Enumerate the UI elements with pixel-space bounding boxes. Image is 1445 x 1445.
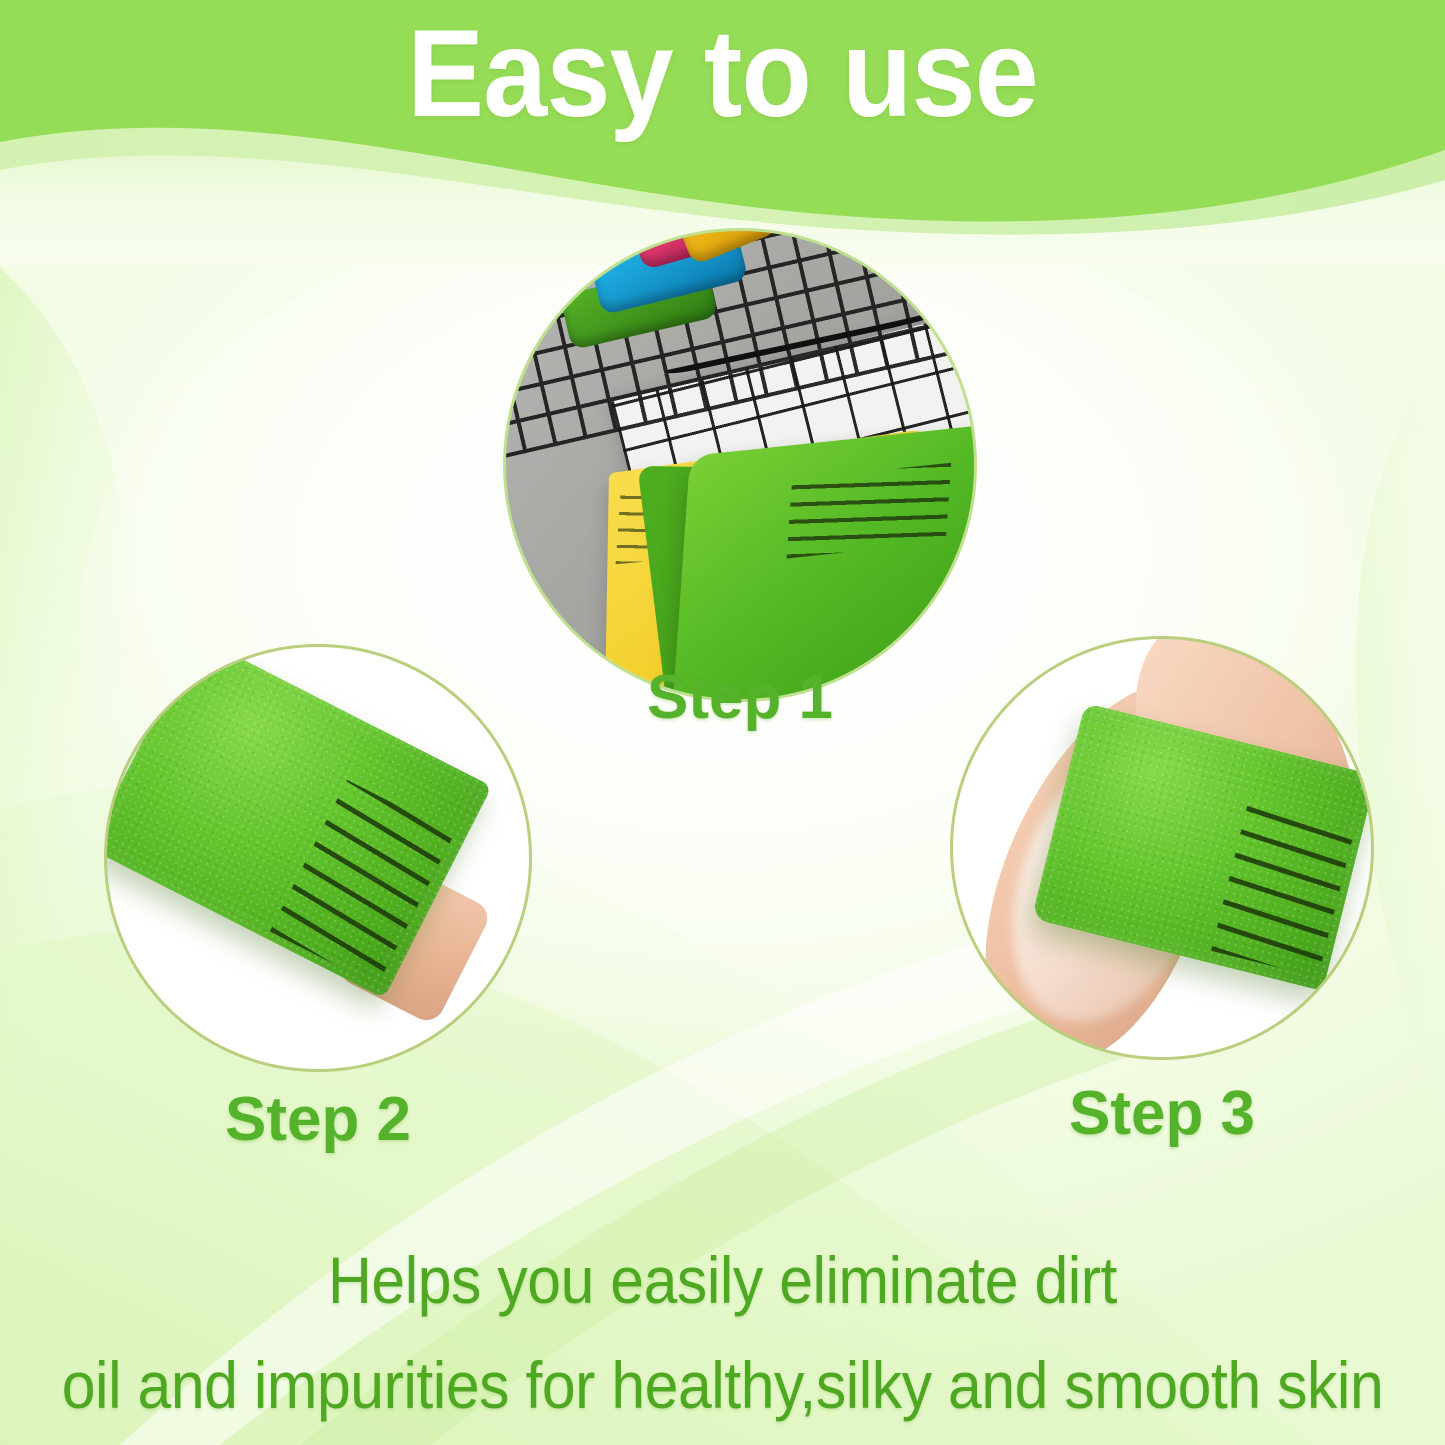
- step-2-label: Step 2: [68, 1084, 568, 1155]
- step-3-label: Step 3: [912, 1078, 1412, 1149]
- mitt-stripes: [1211, 803, 1355, 977]
- tagline-line-2: oil and impurities for healthy,silky and…: [58, 1352, 1387, 1418]
- step-3-photo: [952, 638, 1372, 1058]
- header-banner: Easy to use: [0, 0, 1445, 265]
- colorful-mitt-stack: [560, 230, 810, 356]
- step-2-photo: [106, 646, 530, 1070]
- step-1-photo: [505, 230, 975, 700]
- page-title: Easy to use: [51, 8, 1395, 142]
- tagline-line-1: Helps you easily eliminate dirt: [58, 1247, 1387, 1313]
- step-1-label: Step 1: [490, 662, 990, 733]
- product-infographic-poster: Easy to use Step 1: [0, 0, 1445, 1445]
- step-1-image: [505, 230, 975, 700]
- step-2-image: [106, 646, 530, 1070]
- green-towel: [672, 425, 975, 700]
- step-3-image: [952, 638, 1372, 1058]
